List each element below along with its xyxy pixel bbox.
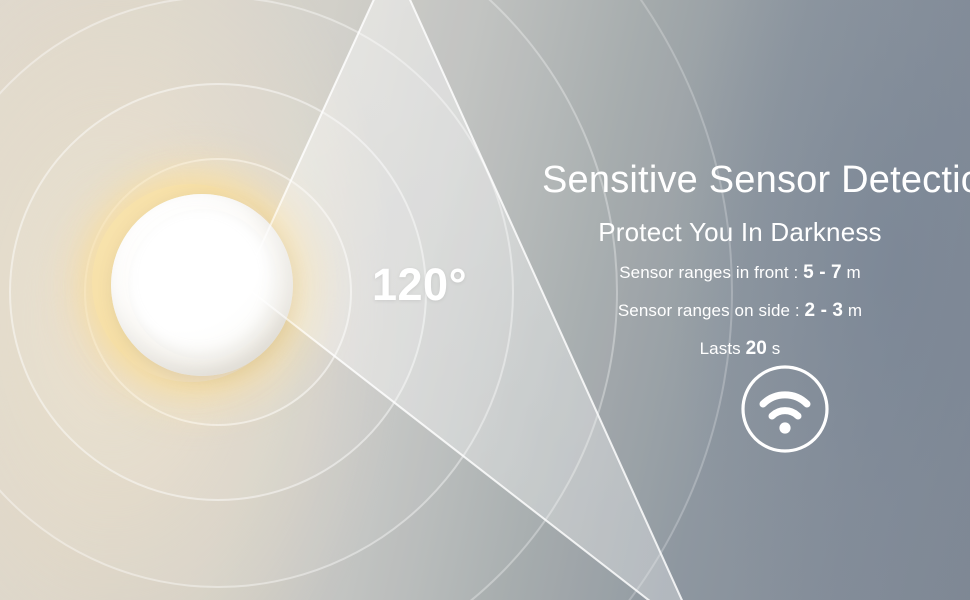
spec-row-front: Sensor ranges in front : 5 - 7 m bbox=[540, 263, 940, 284]
copy-block: Sensitive Sensor Detection Protect You I… bbox=[540, 160, 970, 360]
spec-list: Sensor ranges in front : 5 - 7 m Sensor … bbox=[540, 263, 940, 360]
spec-label-duration: Lasts bbox=[700, 339, 741, 358]
spec-label-side: Sensor ranges on side : bbox=[618, 301, 800, 320]
spec-value-front: 5 - 7 bbox=[803, 262, 842, 283]
lamp-diffuser-face bbox=[128, 209, 278, 359]
signal-arc-inner bbox=[772, 411, 798, 416]
headline: Sensitive Sensor Detection bbox=[542, 160, 970, 202]
spec-label-front: Sensor ranges in front : bbox=[619, 263, 798, 282]
subheadline: Protect You In Darkness bbox=[540, 218, 940, 247]
spec-value-side: 2 - 3 bbox=[805, 300, 844, 321]
spec-unit-duration: s bbox=[772, 339, 781, 358]
angle-label: 120° bbox=[372, 262, 467, 307]
spec-value-duration: 20 bbox=[746, 338, 767, 359]
signal-dot bbox=[779, 422, 790, 433]
spec-unit-front: m bbox=[847, 263, 861, 282]
spec-unit-side: m bbox=[848, 301, 862, 320]
spec-row-side: Sensor ranges on side : 2 - 3 m bbox=[540, 301, 940, 322]
product-banner: 120° Sensitive Sensor Detection Protect … bbox=[0, 0, 970, 600]
spec-row-duration: Lasts 20 s bbox=[540, 339, 940, 360]
wifi-signal-icon bbox=[740, 364, 830, 454]
signal-arc-outer bbox=[763, 395, 807, 404]
